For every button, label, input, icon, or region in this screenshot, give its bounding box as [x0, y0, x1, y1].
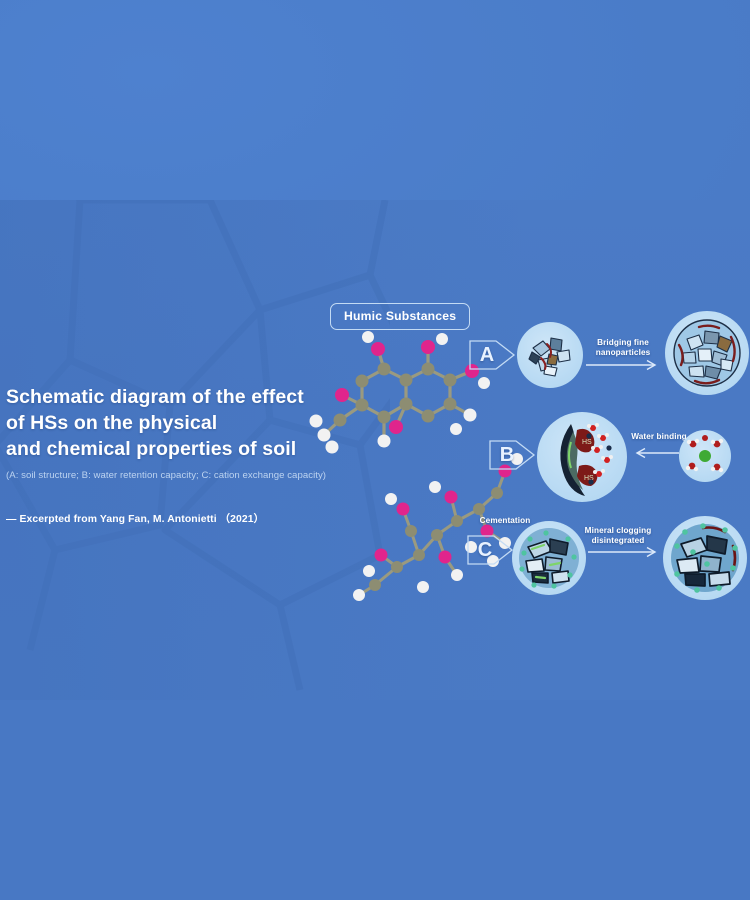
caption-bridging-line-2: nanoparticles	[585, 348, 661, 358]
title-line-3: and chemical properties of soil	[6, 436, 346, 462]
arrow-left-b	[633, 446, 679, 460]
figure-canvas: Schematic diagram of the effect of HSs o…	[0, 0, 750, 900]
soil-aggregate-after-circle	[665, 311, 749, 395]
title-line-1: Schematic diagram of the effect	[6, 384, 346, 410]
title-line-2: of HSs on the physical	[6, 410, 346, 436]
badge-a: A	[468, 333, 516, 377]
caption-block: Schematic diagram of the effect of HSs o…	[6, 384, 346, 525]
svg-text:HS: HS	[582, 439, 592, 446]
subtitle-legend: (A: soil structure; B: water retention c…	[6, 469, 346, 482]
caption-bridging: Bridging fine nanoparticles	[585, 338, 661, 357]
water-cluster-circle	[679, 430, 731, 482]
arrow-right-c	[588, 545, 660, 559]
clogged-aggregate-circle	[512, 521, 586, 595]
caption-bridging-line-1: Bridging fine	[585, 338, 661, 348]
caption-mineral-clogging-line-1: Mineral clogging	[577, 526, 659, 536]
caption-mineral-clogging-line-2: disintegrated	[577, 536, 659, 546]
arrow-right-a	[586, 358, 660, 372]
disintegrated-aggregate-circle	[663, 516, 747, 600]
soil-aggregate-before-circle	[517, 322, 583, 388]
water-retention-circle: HS HS	[537, 412, 627, 502]
source-credit: — Excerpted from Yang Fan, M. Antonietti…	[6, 510, 346, 525]
caption-mineral-clogging: Mineral clogging disintegrated	[577, 526, 659, 545]
badge-c-letter: C	[466, 528, 504, 572]
badge-c: C	[466, 528, 514, 572]
badge-b: B	[488, 433, 536, 477]
badge-b-letter: B	[488, 433, 526, 477]
page-title: Schematic diagram of the effect of HSs o…	[6, 384, 346, 462]
badge-a-letter: A	[468, 333, 506, 377]
